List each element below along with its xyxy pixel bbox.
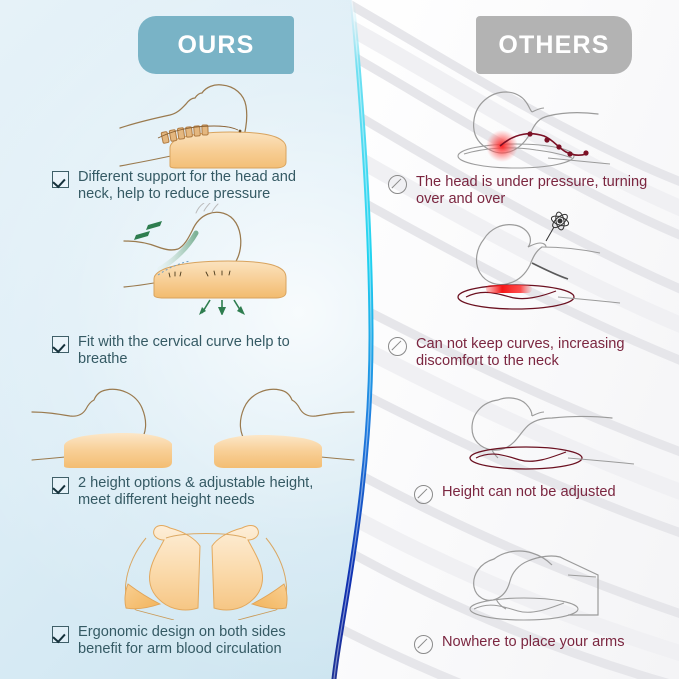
checkbox-checked-icon (52, 171, 69, 188)
illustration-flat-pillow-no-arm-space (448, 535, 663, 627)
ours-feature-3: 2 height options & adjustable height, me… (52, 475, 352, 509)
ours-feature-2-text: Fit with the cervical curve help to brea… (78, 334, 290, 368)
others-feature-3: Height can not be adjusted (414, 484, 674, 504)
prohibition-icon (388, 337, 407, 356)
comparison-infographic: OURS OTHERS (0, 0, 679, 679)
illustration-head-flat-pillow-pressure-point (440, 84, 655, 176)
checkbox-checked-icon (52, 477, 69, 494)
ours-header-banner: OURS (138, 16, 294, 74)
prohibition-icon (414, 635, 433, 654)
others-header-label: OTHERS (498, 31, 609, 60)
illustration-head-tilted-breathing-blocked (440, 205, 655, 313)
others-feature-1-text: The head is under pressure, turning over… (416, 174, 647, 208)
checkbox-checked-icon (52, 336, 69, 353)
others-header-banner: OTHERS (476, 16, 632, 74)
ours-feature-3-text: 2 height options & adjustable height, me… (78, 475, 313, 509)
ours-feature-1-text: Different support for the head and neck,… (78, 169, 296, 203)
ours-feature-1: Different support for the head and neck,… (52, 169, 342, 203)
illustration-head-on-contour-pillow-with-spine (118, 82, 328, 174)
ours-feature-2: Fit with the cervical curve help to brea… (52, 334, 342, 368)
others-feature-2-text: Can not keep curves, increasing discomfo… (416, 336, 624, 370)
others-feature-4-text: Nowhere to place your arms (442, 634, 625, 651)
ours-header-label: OURS (177, 31, 254, 60)
illustration-head-flat-pillow-no-curve (448, 382, 663, 470)
others-feature-1: The head is under pressure, turning over… (388, 174, 668, 208)
prohibition-icon (414, 485, 433, 504)
illustration-head-breathing-with-airflow-arrows (118, 203, 328, 315)
illustration-pillow-top-view-arm-cutouts (100, 516, 312, 620)
ours-feature-4-text: Ergonomic design on both sides benefit f… (78, 624, 286, 658)
prohibition-icon (388, 175, 407, 194)
checkbox-checked-icon (52, 626, 69, 643)
others-feature-3-text: Height can not be adjusted (442, 484, 616, 501)
ours-feature-4: Ergonomic design on both sides benefit f… (52, 624, 352, 658)
others-feature-4: Nowhere to place your arms (414, 634, 674, 654)
illustration-two-pillow-height-options (28, 382, 358, 470)
others-feature-2: Can not keep curves, increasing discomfo… (388, 336, 668, 370)
